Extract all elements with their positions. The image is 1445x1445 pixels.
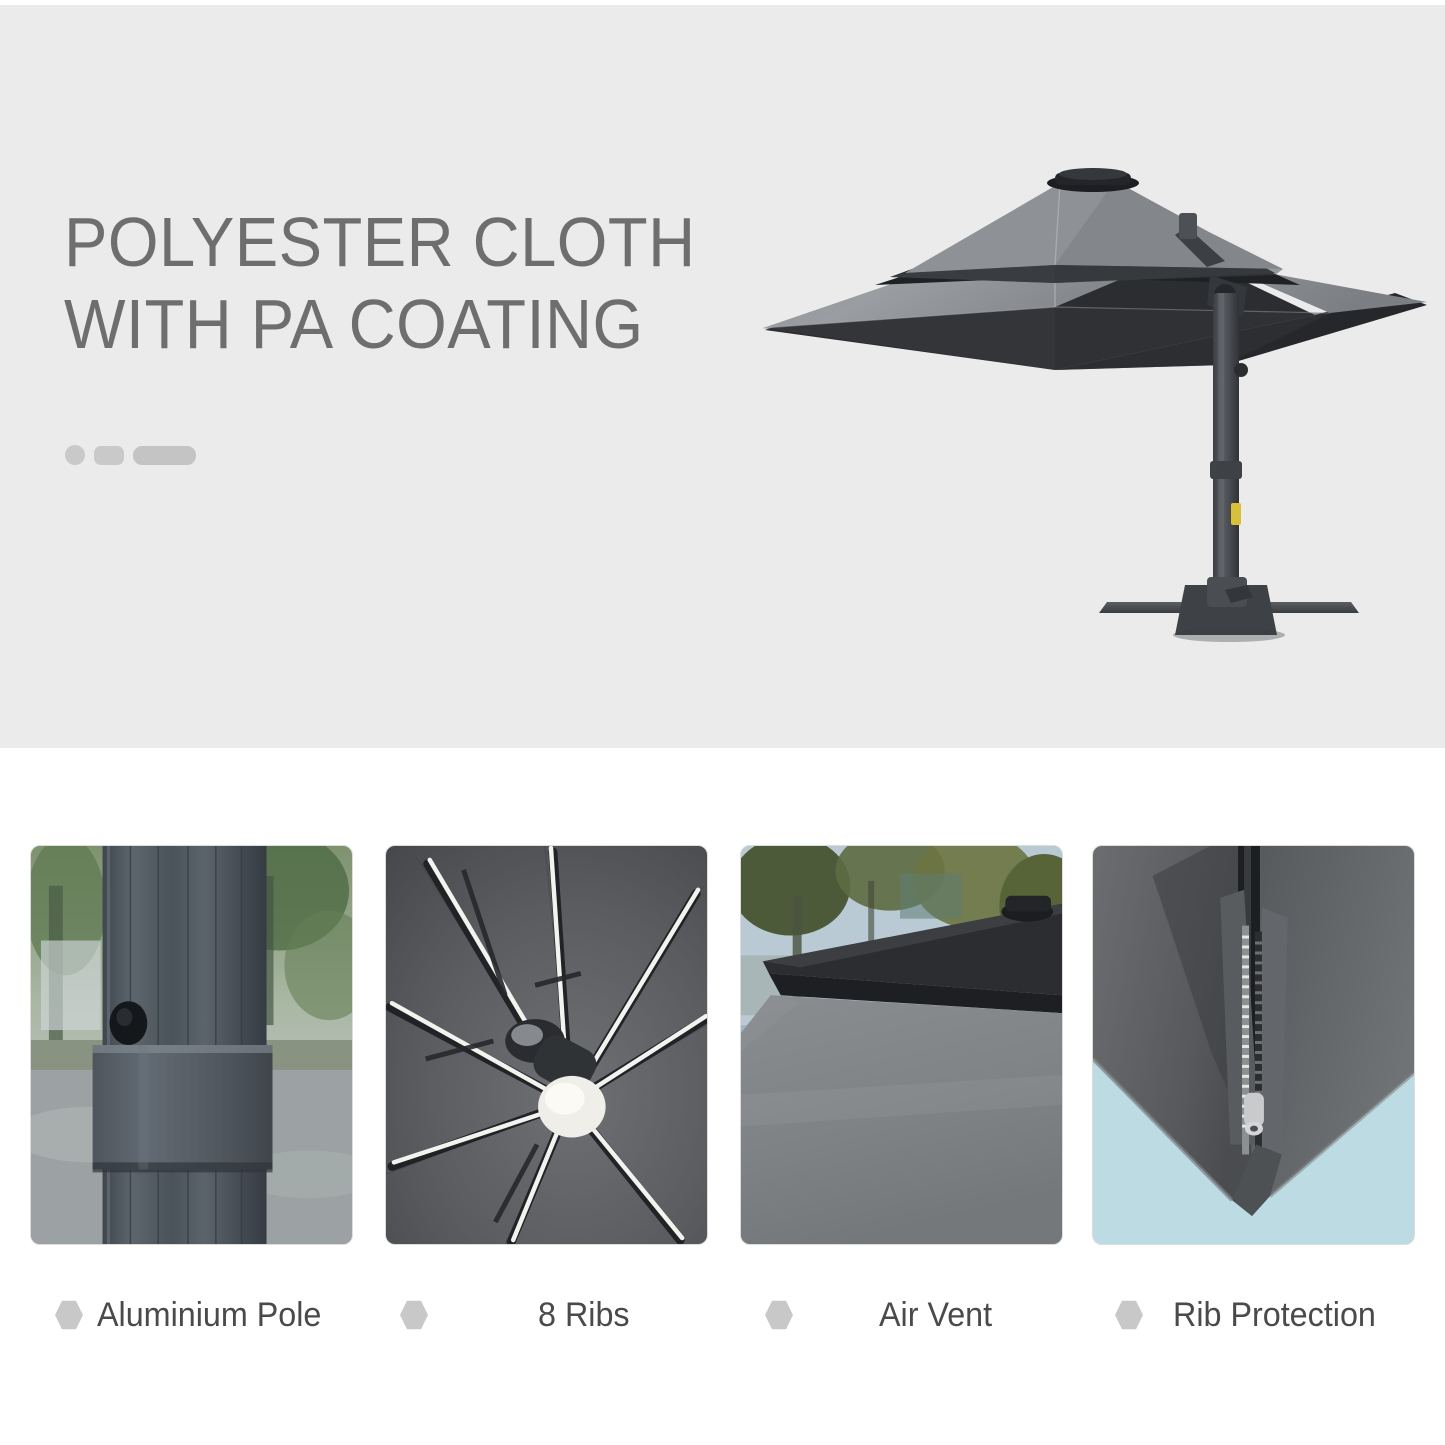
feature-thumbnail-row <box>0 845 1445 1245</box>
feature-label-aluminium-pole: Aluminium Pole <box>55 1290 333 1340</box>
title-line-1: POLYESTER CLOTH <box>64 203 696 281</box>
pill-accent-small-icon <box>94 446 124 465</box>
feature-label-text: Aluminium Pole <box>97 1296 321 1335</box>
hexagon-bullet-icon <box>55 1300 83 1331</box>
cantilever-umbrella-image <box>755 165 1435 665</box>
feature-label-8-ribs: 8 Ribs <box>400 1290 634 1340</box>
thumb-aluminium-pole[interactable] <box>30 845 353 1245</box>
hexagon-bullet-icon <box>765 1300 793 1331</box>
thumb-rib-protection[interactable] <box>1092 845 1415 1245</box>
hero-panel: POLYESTER CLOTHWITH PA COATING <box>0 5 1445 748</box>
feature-label-text: Rib Protection <box>1173 1296 1376 1335</box>
circle-accent-dot-icon <box>65 445 85 465</box>
pill-accent-large-icon <box>133 446 196 465</box>
thumb-8-ribs[interactable] <box>385 845 708 1245</box>
hexagon-bullet-icon <box>1115 1300 1143 1331</box>
feature-label-text: 8 Ribs <box>538 1296 630 1335</box>
title-line-2: WITH PA COATING <box>64 285 644 363</box>
product-infographic-page: POLYESTER CLOTHWITH PA COATING <box>0 0 1445 1445</box>
thumb-air-vent[interactable] <box>740 845 1063 1245</box>
feature-label-air-vent: Air Vent <box>765 1290 998 1340</box>
feature-label-rib-protection: Rib Protection <box>1115 1290 1387 1340</box>
feature-label-text: Air Vent <box>879 1296 992 1335</box>
hexagon-bullet-icon <box>400 1300 428 1331</box>
page-title: POLYESTER CLOTHWITH PA COATING <box>64 201 696 365</box>
decorative-accent <box>65 445 196 465</box>
feature-label-row: Aluminium Pole 8 Ribs Air Vent Rib Prote… <box>0 1290 1445 1360</box>
